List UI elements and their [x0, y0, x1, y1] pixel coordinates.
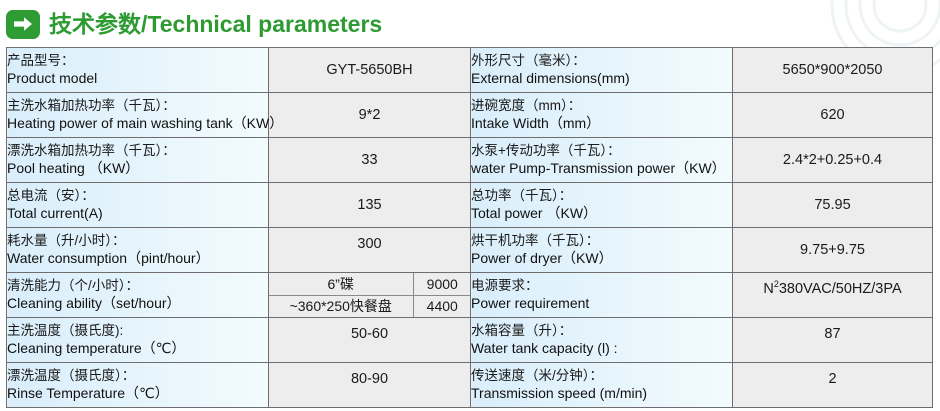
param-value: 620: [733, 93, 933, 138]
sub-desc: 6”碟: [269, 273, 413, 295]
table-row: 耗水量（升/小时）： Water consumption（pint/hour） …: [7, 228, 933, 273]
param-label: 烘干机功率（千瓦）： Power of dryer（KW）: [471, 228, 733, 273]
param-label: 主洗温度（摄氏度): Cleaning temperature（℃）: [7, 318, 269, 363]
param-label: 电源要求： Power requirement: [471, 273, 733, 318]
technical-parameters-table: 产品型号： Product model GYT-5650BH 外形尺寸（毫米）：…: [6, 47, 933, 408]
table-row: 主洗温度（摄氏度): Cleaning temperature（℃） 50-60…: [7, 318, 933, 363]
param-label: 水箱容量（升）： Water tank capacity (l) :: [471, 318, 733, 363]
param-label: 外形尺寸（毫米）： External dimensions(mm): [471, 48, 733, 93]
sub-row: ~360*250快餐盘 4400: [269, 295, 471, 317]
param-label: 漂洗水箱加热功率（千瓦）： Pool heating （KW）: [7, 138, 269, 183]
sub-number: 4400: [413, 295, 471, 317]
param-label: 耗水量（升/小时）： Water consumption（pint/hour）: [7, 228, 269, 273]
param-label: 进碗宽度（mm）： Intake Width（mm）: [471, 93, 733, 138]
param-value: 135: [269, 183, 471, 228]
param-label: 总功率（千瓦）： Total power （KW）: [471, 183, 733, 228]
param-label: 传送速度（米/分钟）： Transmission speed (m/min): [471, 363, 733, 408]
table-row: 清洗能力（个/小时）： Cleaning ability（set/hour） 6…: [7, 273, 933, 318]
param-label: 产品型号： Product model: [7, 48, 269, 93]
section-header: 技术参数/Technical parameters: [6, 4, 382, 44]
param-value: 80-90: [269, 363, 471, 408]
param-value: GYT-5650BH: [269, 48, 471, 93]
param-value: 2: [733, 363, 933, 408]
sub-number: 9000: [413, 273, 471, 295]
param-label: 清洗能力（个/小时）： Cleaning ability（set/hour）: [7, 273, 269, 318]
param-value: 33: [269, 138, 471, 183]
param-value: 300: [269, 228, 471, 273]
param-label: 漂洗温度（摄氏度）： Rinse Temperature（℃）: [7, 363, 269, 408]
param-label: 总电流（安）： Total current(A): [7, 183, 269, 228]
cleaning-ability-subtable: 6”碟 9000 ~360*250快餐盘 4400: [269, 273, 471, 317]
sub-row: 6”碟 9000: [269, 273, 471, 295]
param-value: 5650*900*2050: [733, 48, 933, 93]
param-value: 87: [733, 318, 933, 363]
table-row: 漂洗温度（摄氏度）： Rinse Temperature（℃） 80-90 传送…: [7, 363, 933, 408]
power-req-suffix: 380VAC/50HZ/3PA: [779, 281, 902, 297]
table-row: 漂洗水箱加热功率（千瓦）： Pool heating （KW） 33 水泵+传动…: [7, 138, 933, 183]
param-value: 2.4*2+0.25+0.4: [733, 138, 933, 183]
arrow-right-icon: [6, 10, 40, 39]
param-value: 9.75+9.75: [733, 228, 933, 273]
param-value: N2380VAC/50HZ/3PA: [733, 273, 933, 318]
sub-desc: ~360*250快餐盘: [269, 295, 413, 317]
param-label: 水泵+传动功率（千瓦）： water Pump-Transmission pow…: [471, 138, 733, 183]
param-label: 主洗水箱加热功率（千瓦）： Heating power of main wash…: [7, 93, 269, 138]
table-row: 主洗水箱加热功率（千瓦）： Heating power of main wash…: [7, 93, 933, 138]
param-value: 75.95: [733, 183, 933, 228]
param-value: 9*2: [269, 93, 471, 138]
table-row: 总电流（安）： Total current(A) 135 总功率（千瓦）： To…: [7, 183, 933, 228]
param-value: 50-60: [269, 318, 471, 363]
table-row: 产品型号： Product model GYT-5650BH 外形尺寸（毫米）：…: [7, 48, 933, 93]
param-value-split: 6”碟 9000 ~360*250快餐盘 4400: [269, 273, 471, 318]
page-title: 技术参数/Technical parameters: [49, 13, 382, 36]
power-req-prefix: N: [763, 281, 773, 297]
